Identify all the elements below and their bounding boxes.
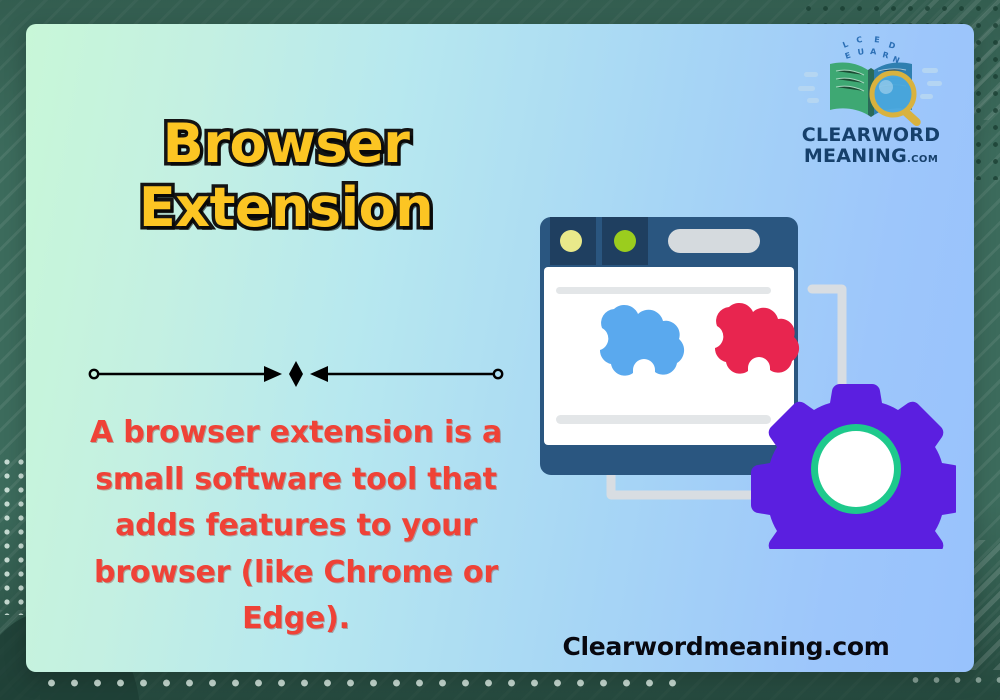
- poster-canvas: Browser Extension A browser extension is…: [0, 0, 1000, 700]
- site-url[interactable]: Clearwordmeaning.com: [506, 632, 946, 661]
- logo-brand-line-2: MEANING: [804, 147, 907, 166]
- title-line-1: Browser: [26, 112, 546, 176]
- logo-brand-suffix: .COM: [907, 154, 938, 165]
- content-card: Browser Extension A browser extension is…: [26, 24, 974, 672]
- tab-dot-yellow: [560, 230, 582, 252]
- book-magnifier-icon: L C E D E U A R N: [796, 36, 946, 128]
- connector-line-top: [812, 289, 842, 395]
- brand-logo[interactable]: L C E D E U A R N: [796, 36, 946, 168]
- illustration-svg: [526, 199, 956, 549]
- definition-text: A browser extension is a small software …: [70, 410, 522, 643]
- svg-text:E: E: [844, 51, 852, 61]
- browser-extension-illustration: [526, 199, 956, 549]
- svg-text:A: A: [870, 47, 878, 56]
- content-line-top: [556, 287, 771, 294]
- svg-text:L: L: [841, 40, 849, 50]
- svg-text:U: U: [857, 47, 865, 57]
- title-line-2: Extension: [26, 176, 546, 240]
- svg-text:C: C: [856, 36, 864, 45]
- decorative-divider: [86, 357, 506, 391]
- svg-text:E: E: [874, 36, 880, 45]
- browser-window-graphic: [540, 217, 799, 475]
- svg-text:D: D: [887, 40, 896, 51]
- diamond-row-bottom-right: [905, 670, 1000, 692]
- browser-address-bar: [668, 229, 760, 253]
- tab-dot-green: [614, 230, 636, 252]
- divider-icon: [86, 357, 506, 391]
- page-title: Browser Extension: [26, 112, 546, 239]
- content-line-bottom: [556, 415, 771, 424]
- logo-brand-line-1: CLEARWORD: [796, 126, 946, 145]
- svg-text:R: R: [882, 50, 890, 60]
- diamond-row-bottom: [40, 672, 680, 694]
- dot-column-left: [0, 455, 28, 615]
- logo-brand-line-2-row: MEANING .COM: [796, 147, 946, 166]
- gear-center: [818, 431, 894, 507]
